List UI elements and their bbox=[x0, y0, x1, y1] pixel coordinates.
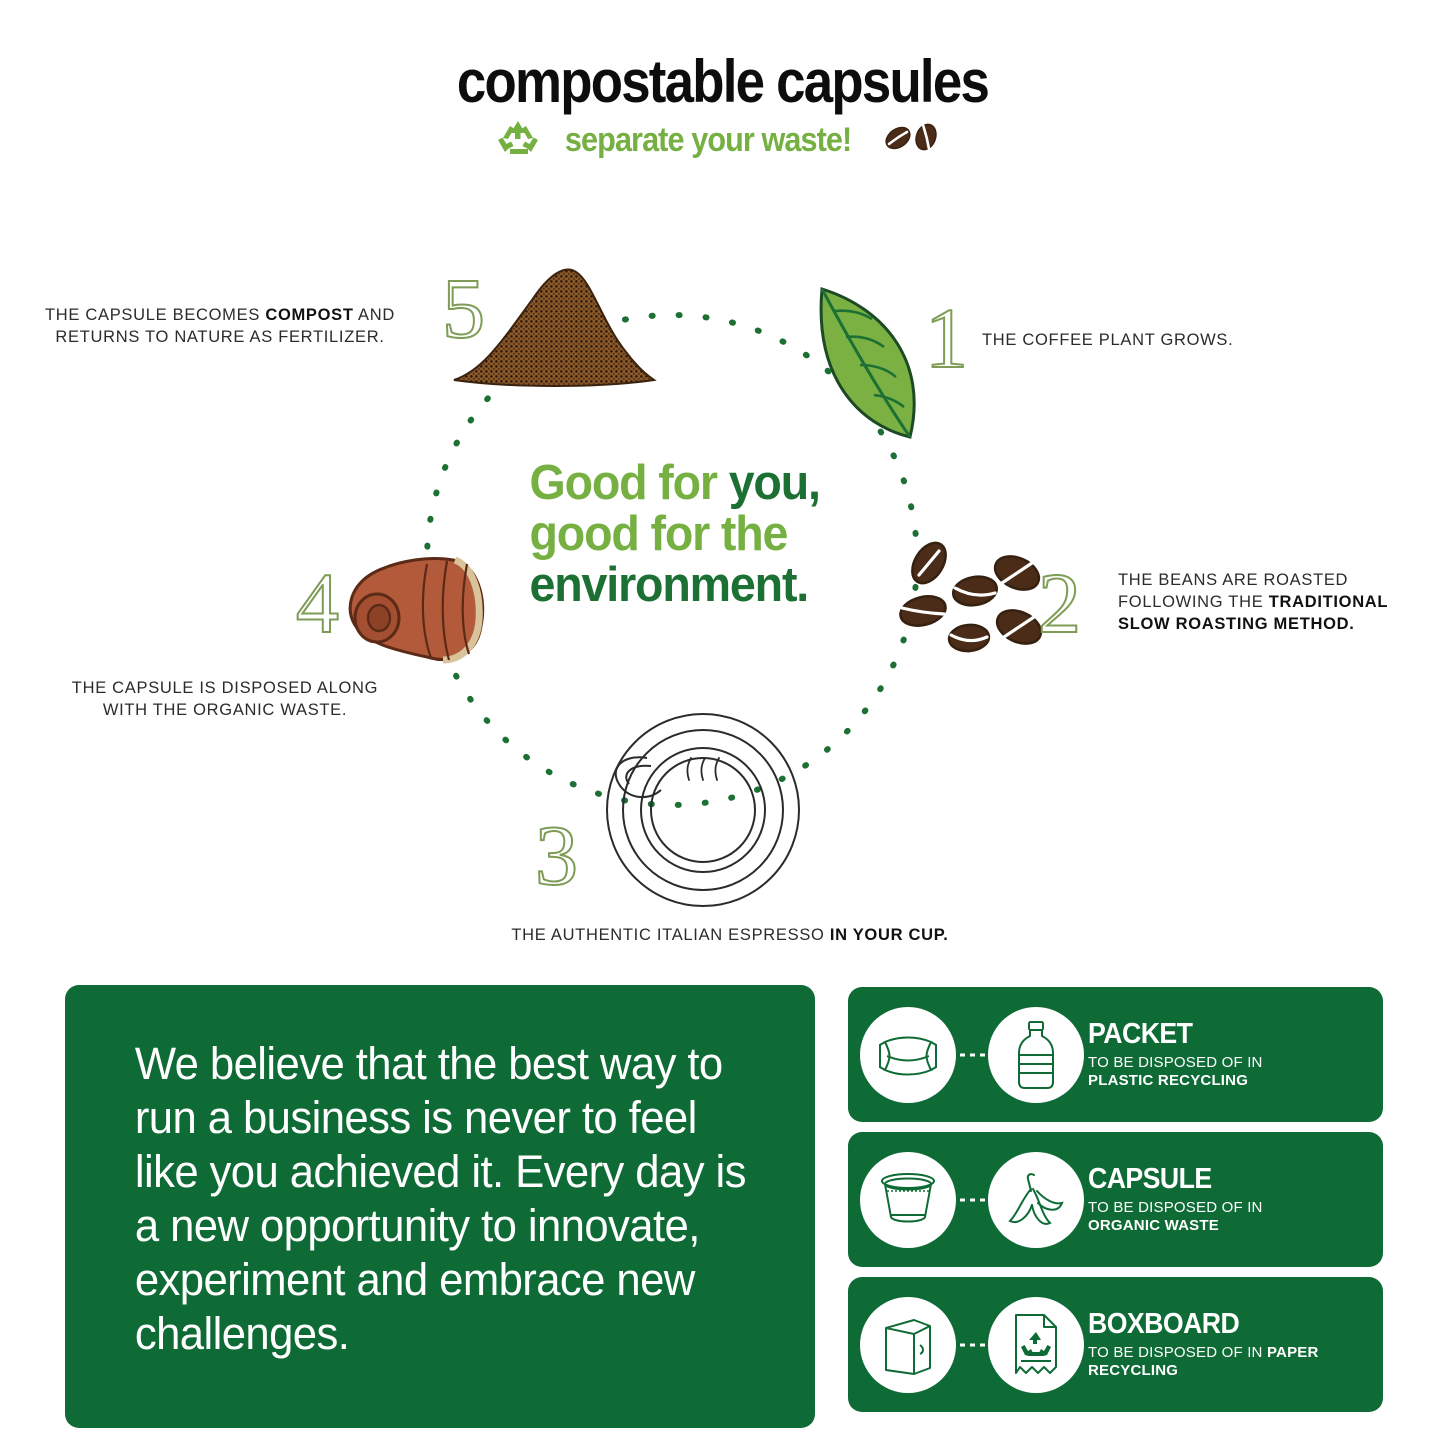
slogan-line3-dark: environment. bbox=[530, 558, 809, 612]
packet-icon bbox=[860, 1007, 956, 1103]
header-subtitle: separate your waste! bbox=[565, 121, 851, 160]
recyclable-paper-icon bbox=[988, 1297, 1084, 1393]
header-subline: separate your waste! bbox=[0, 116, 1445, 165]
disposal-card-boxboard[interactable]: BOXBOARD TO BE DISPOSED OF IN PAPER RECY… bbox=[848, 1277, 1383, 1412]
step-4-label: THE CAPSULE IS DISPOSED ALONG WITH THE O… bbox=[50, 678, 400, 722]
step-number-1: 1 bbox=[925, 295, 968, 381]
card-sub-bold: ORGANIC WASTE bbox=[1088, 1217, 1219, 1234]
step-1-text: THE COFFEE PLANT GROWS. bbox=[982, 331, 1233, 349]
coffee-beans-icon bbox=[895, 535, 1055, 665]
card-text: PACKET TO BE DISPOSED OF IN PLASTIC RECY… bbox=[1088, 1020, 1275, 1090]
carton-box-icon bbox=[860, 1297, 956, 1393]
disposal-card-packet[interactable]: PACKET TO BE DISPOSED OF IN PLASTIC RECY… bbox=[848, 987, 1383, 1122]
page-title: compostable capsules bbox=[87, 52, 1359, 112]
card-sub-plain: TO BE DISPOSED OF IN bbox=[1088, 1199, 1263, 1216]
quote-text: We believe that the best way to run a bu… bbox=[65, 985, 793, 1361]
connector-dashes bbox=[960, 1343, 990, 1346]
quote-panel: We believe that the best way to run a bu… bbox=[65, 985, 815, 1428]
step-3-label: THE AUTHENTIC ITALIAN ESPRESSO IN YOUR C… bbox=[470, 925, 990, 947]
step-number-4: 4 bbox=[296, 560, 339, 646]
card-icons bbox=[848, 987, 1088, 1122]
coffee-capsule-icon bbox=[335, 550, 495, 670]
step-3-text-bold: IN YOUR CUP. bbox=[830, 926, 949, 944]
card-title: BOXBOARD bbox=[1088, 1310, 1348, 1339]
step-5-text-bold: COMPOST bbox=[265, 306, 353, 324]
card-subtitle: TO BE DISPOSED OF IN PLASTIC RECYCLING bbox=[1088, 1054, 1263, 1090]
recycle-icon bbox=[497, 118, 541, 163]
step-5-label: THE CAPSULE BECOMES COMPOST AND RETURNS … bbox=[20, 305, 420, 349]
card-sub-plain: TO BE DISPOSED OF IN bbox=[1088, 1344, 1267, 1361]
capsule-icon bbox=[860, 1152, 956, 1248]
espresso-cup-icon bbox=[585, 710, 805, 910]
card-icons bbox=[848, 1132, 1088, 1267]
card-title: CAPSULE bbox=[1088, 1165, 1249, 1194]
slogan: Good for you, good for the environment. bbox=[530, 458, 891, 611]
card-text: BOXBOARD TO BE DISPOSED OF IN PAPER RECY… bbox=[1088, 1310, 1383, 1380]
step-3-text: THE AUTHENTIC ITALIAN ESPRESSO bbox=[511, 926, 829, 944]
card-sub-plain: TO BE DISPOSED OF IN bbox=[1088, 1054, 1263, 1071]
slogan-line1-light: Good for bbox=[530, 456, 717, 510]
step-number-5: 5 bbox=[442, 265, 485, 351]
step-number-3: 3 bbox=[535, 812, 578, 898]
header: compostable capsules separate your waste… bbox=[0, 52, 1445, 165]
coffee-beans-icon bbox=[876, 116, 948, 165]
step-2-label: THE BEANS ARE ROASTED FOLLOWING THE TRAD… bbox=[1118, 570, 1418, 635]
card-title: PACKET bbox=[1088, 1020, 1249, 1049]
card-icons bbox=[848, 1277, 1088, 1412]
card-subtitle: TO BE DISPOSED OF IN PAPER RECYCLING bbox=[1088, 1344, 1371, 1380]
step-1-label: THE COFFEE PLANT GROWS. bbox=[982, 330, 1282, 352]
card-sub-bold: PLASTIC RECYCLING bbox=[1088, 1072, 1248, 1089]
step-4-text: THE CAPSULE IS DISPOSED ALONG WITH THE O… bbox=[72, 679, 378, 719]
banana-peel-icon bbox=[988, 1152, 1084, 1248]
connector-dashes bbox=[960, 1198, 990, 1201]
disposal-card-capsule[interactable]: CAPSULE TO BE DISPOSED OF IN ORGANIC WAS… bbox=[848, 1132, 1383, 1267]
card-subtitle: TO BE DISPOSED OF IN ORGANIC WASTE bbox=[1088, 1199, 1263, 1235]
plastic-bottle-icon bbox=[988, 1007, 1084, 1103]
lifecycle-diagram: Good for you, good for the environment. … bbox=[0, 200, 1445, 980]
step-number-2: 2 bbox=[1038, 560, 1081, 646]
card-text: CAPSULE TO BE DISPOSED OF IN ORGANIC WAS… bbox=[1088, 1165, 1275, 1235]
connector-dashes bbox=[960, 1053, 990, 1056]
step-5-text-a: THE CAPSULE BECOMES bbox=[45, 306, 265, 324]
leaf-icon bbox=[800, 275, 940, 465]
slogan-line2-light: good for the bbox=[530, 507, 788, 561]
bottom-section: We believe that the best way to run a bu… bbox=[0, 985, 1445, 1445]
